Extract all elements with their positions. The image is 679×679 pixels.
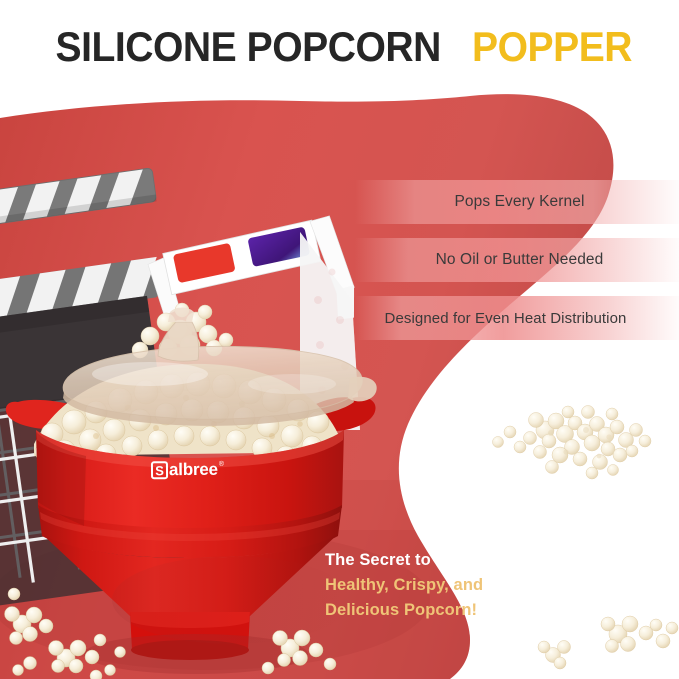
registered-trademark-icon: ® — [219, 461, 224, 469]
product-hero-image: SILICONE POPCORN POPPER Pops Every Kerne… — [0, 0, 679, 679]
tagline-block: The Secret to Healthy, Crispy, and Delic… — [325, 548, 483, 623]
feature-label: Designed for Even Heat Distribution — [346, 310, 665, 327]
brand-name: albree — [169, 461, 218, 479]
headline: SILICONE POPCORN POPPER — [0, 18, 679, 76]
brand-logo: albree ® — [151, 461, 224, 480]
headline-accent: POPPER — [472, 23, 632, 71]
tagline-line-2: Healthy, Crispy, and — [325, 573, 483, 598]
feature-row: Designed for Even Heat Distribution — [360, 296, 679, 340]
tagline-line-1: The Secret to — [325, 548, 483, 573]
feature-list: Pops Every Kernel No Oil or Butter Neede… — [360, 180, 679, 354]
feature-row: No Oil or Butter Needed — [360, 238, 679, 282]
tagline-line-3: Delicious Popcorn! — [325, 598, 483, 623]
feature-row: Pops Every Kernel — [360, 180, 679, 224]
feature-label: Pops Every Kernel — [360, 193, 679, 211]
feature-label: No Oil or Butter Needed — [360, 251, 679, 269]
brand-mark-icon — [151, 461, 168, 479]
headline-primary: SILICONE POPCORN — [56, 23, 441, 71]
